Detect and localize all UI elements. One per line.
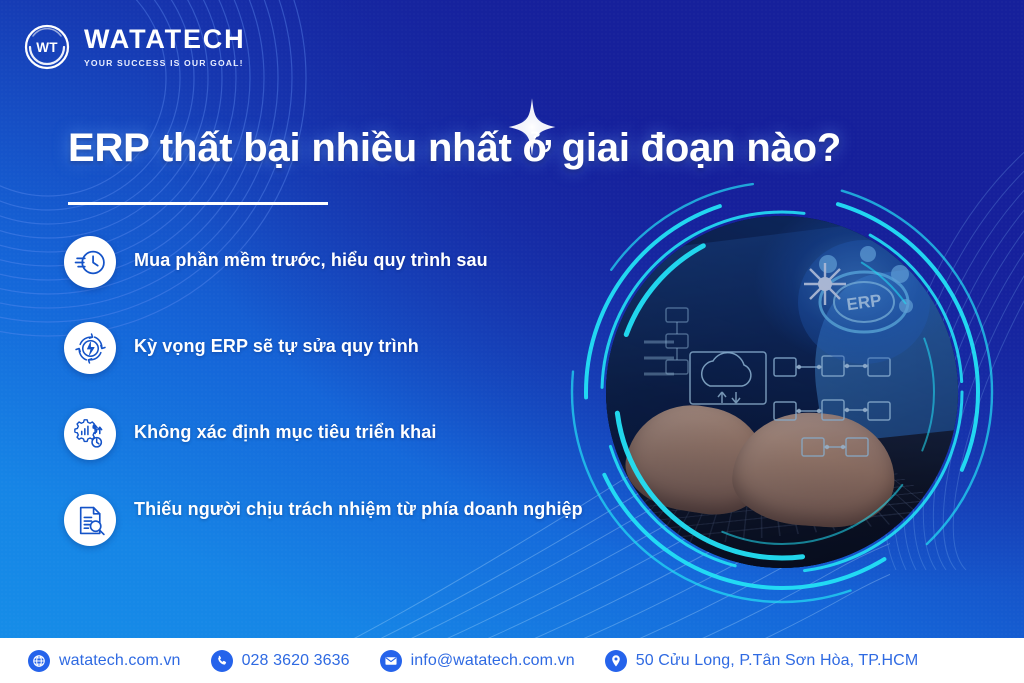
contact-website-label: watatech.com.vn [59, 652, 181, 670]
tech-circle-rings-icon [568, 178, 996, 606]
cycle-lightning-icon [64, 322, 116, 374]
contact-phone[interactable]: 028 3620 3636 [211, 650, 350, 672]
list-item-label: Mua phần mềm trước, hiểu quy trình sau [134, 236, 488, 274]
phone-icon [211, 650, 233, 672]
footer-contact-bar: watatech.com.vn 028 3620 3636 info@watat… [0, 638, 1024, 683]
wt-monogram-icon: WT [22, 22, 72, 72]
document-magnifier-icon [64, 494, 116, 546]
list-item: Kỳ vọng ERP sẽ tự sửa quy trình [64, 322, 584, 374]
poster-canvas: WT WATATECH YOUR SUCCESS IS OUR GOAL! ER… [0, 0, 1024, 683]
contact-address-label: 50 Cửu Long, P.Tân Sơn Hòa, TP.HCM [636, 652, 919, 670]
envelope-icon [380, 650, 402, 672]
list-item: Mua phần mềm trước, hiểu quy trình sau [64, 236, 584, 288]
page-title: ERP thất bại nhiều nhất ở giai đoạn nào? [68, 126, 968, 170]
hero-image: ERP [606, 216, 958, 568]
list-item-label: Không xác định mục tiêu triển khai [134, 408, 436, 446]
globe-icon [28, 650, 50, 672]
list-item: Thiếu người chịu trách nhiệm từ phía doa… [64, 494, 584, 546]
brand-header: WT WATATECH YOUR SUCCESS IS OUR GOAL! [22, 22, 245, 72]
list-item: Không xác định mục tiêu triển khai [64, 408, 584, 460]
svg-text:WT: WT [36, 40, 58, 55]
contact-email[interactable]: info@watatech.com.vn [380, 650, 575, 672]
location-pin-icon [605, 650, 627, 672]
brand-tagline: YOUR SUCCESS IS OUR GOAL! [84, 58, 245, 68]
failure-reason-list: Mua phần mềm trước, hiểu quy trình sau K… [64, 236, 584, 546]
contact-address[interactable]: 50 Cửu Long, P.Tân Sơn Hòa, TP.HCM [605, 650, 919, 672]
brand-name: WATATECH [84, 26, 245, 53]
contact-website[interactable]: watatech.com.vn [28, 650, 181, 672]
title-underline-rule [68, 202, 328, 205]
list-item-label: Thiếu người chịu trách nhiệm từ phía doa… [134, 494, 583, 523]
gear-chart-growth-icon [64, 408, 116, 460]
clock-speed-icon [64, 236, 116, 288]
list-item-label: Kỳ vọng ERP sẽ tự sửa quy trình [134, 322, 419, 360]
contact-phone-label: 028 3620 3636 [242, 652, 350, 670]
contact-email-label: info@watatech.com.vn [411, 652, 575, 670]
